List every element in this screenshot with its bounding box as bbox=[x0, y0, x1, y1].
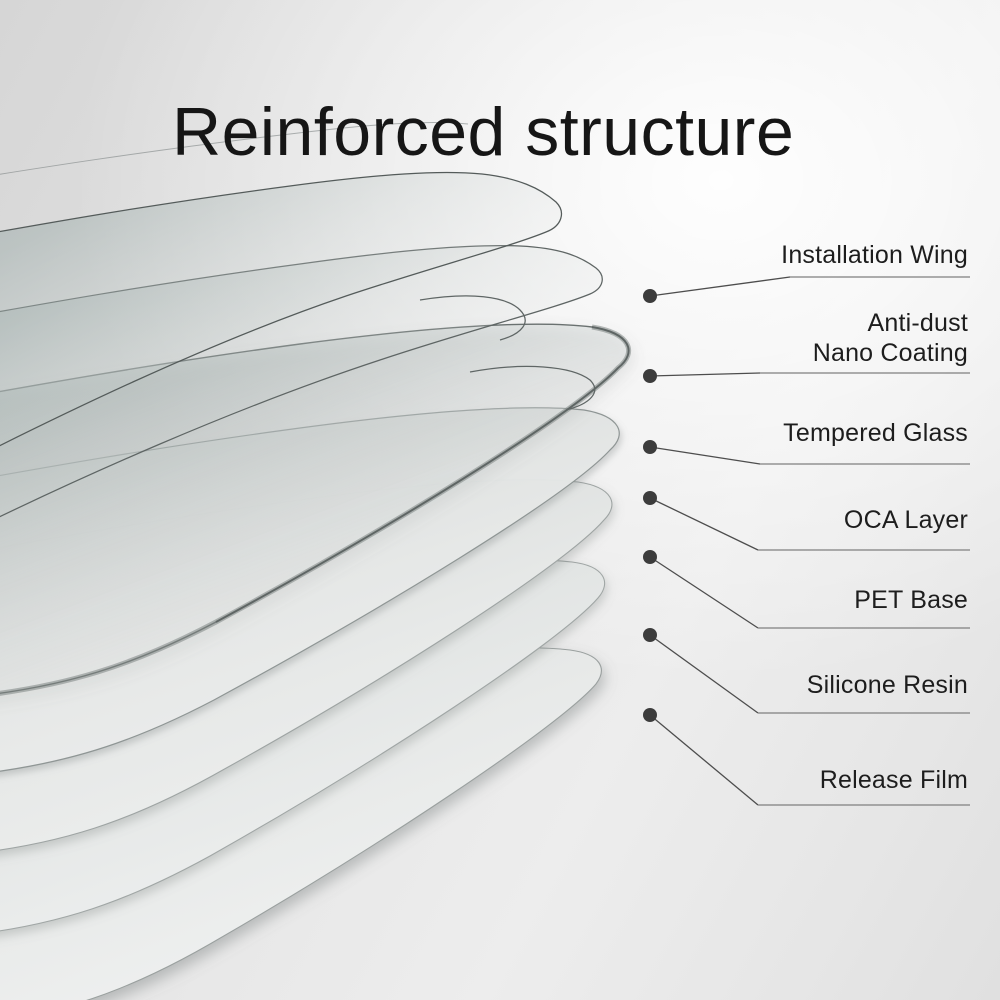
callout-label-tempered-glass: Tempered Glass bbox=[783, 418, 968, 448]
leader-line-oca-layer bbox=[650, 498, 758, 550]
callout-label-oca-layer: OCA Layer bbox=[844, 505, 968, 535]
callout-dot-installation-wing[interactable] bbox=[643, 289, 657, 303]
callout-dot-release-film[interactable] bbox=[643, 708, 657, 722]
leader-line-release-film bbox=[650, 715, 758, 805]
callout-dot-silicone-resin[interactable] bbox=[643, 628, 657, 642]
leader-line-silicone-resin bbox=[650, 635, 758, 713]
callout-dot-pet-base[interactable] bbox=[643, 550, 657, 564]
leader-lines bbox=[0, 0, 1000, 1000]
callout-dot-anti-dust-nano-coating[interactable] bbox=[643, 369, 657, 383]
leader-line-anti-dust-nano-coating bbox=[650, 373, 760, 376]
infographic-canvas: Reinforced structure Installation WingAn… bbox=[0, 0, 1000, 1000]
callout-label-anti-dust-nano-coating: Anti-dust Nano Coating bbox=[813, 308, 968, 368]
callout-label-installation-wing: Installation Wing bbox=[781, 240, 968, 270]
leader-line-pet-base bbox=[650, 557, 758, 628]
callout-label-release-film: Release Film bbox=[820, 765, 968, 795]
callout-label-pet-base: PET Base bbox=[854, 585, 968, 615]
callout-dot-oca-layer[interactable] bbox=[643, 491, 657, 505]
callout-list: Installation WingAnti-dust Nano CoatingT… bbox=[0, 0, 1000, 1000]
leader-line-tempered-glass bbox=[650, 447, 760, 464]
callout-label-silicone-resin: Silicone Resin bbox=[807, 670, 968, 700]
leader-line-installation-wing bbox=[650, 277, 790, 296]
callout-dot-tempered-glass[interactable] bbox=[643, 440, 657, 454]
